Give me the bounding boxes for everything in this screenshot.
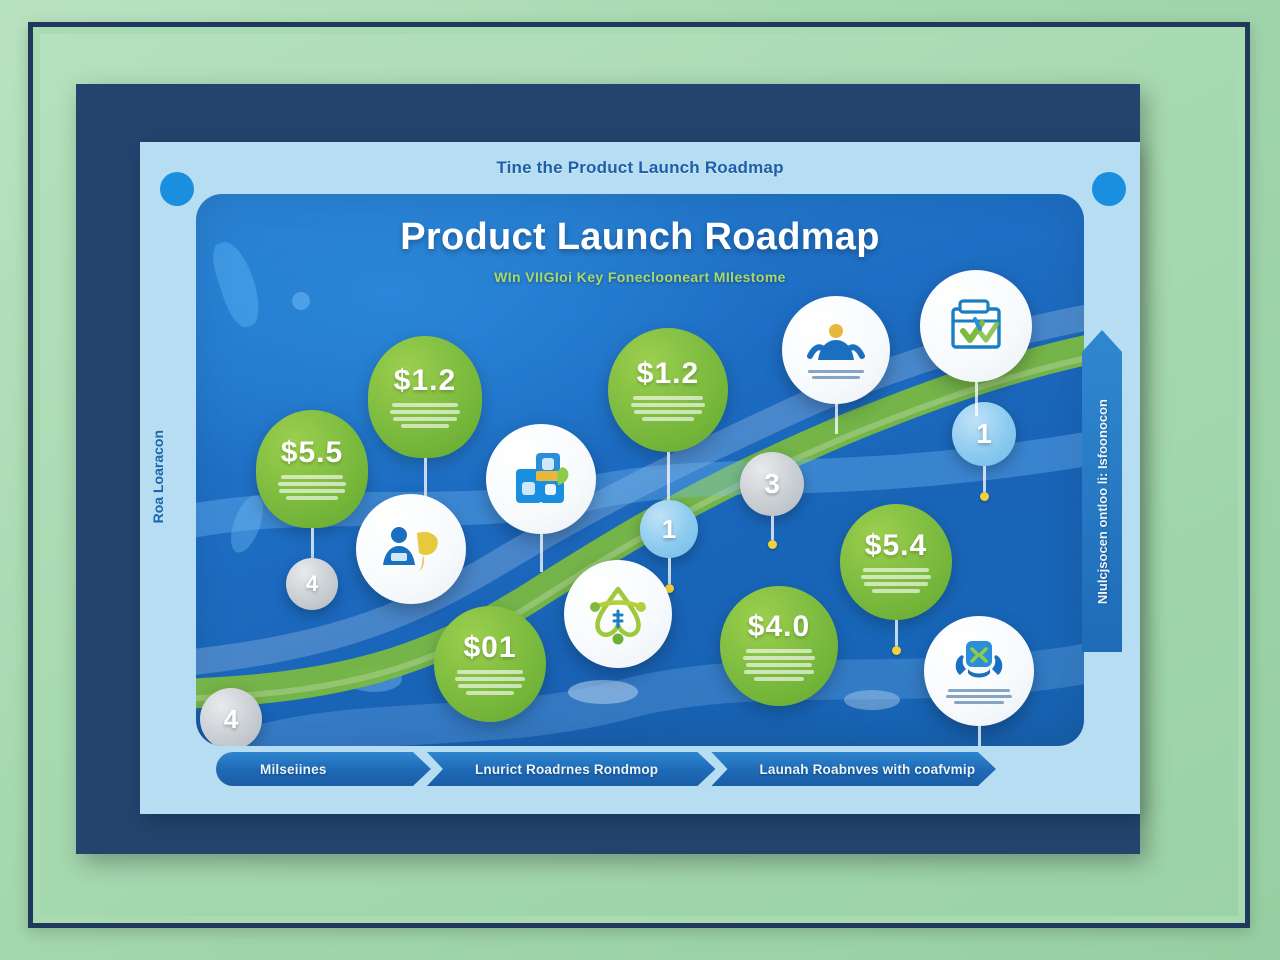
step-marker-3[interactable]: 3: [740, 452, 804, 516]
icon-node-chat[interactable]: [356, 494, 466, 604]
atom-molecule-glyph: [585, 581, 651, 647]
header-eyebrow: Tine the Product Launch Roadmap: [496, 158, 783, 178]
marker-tail: [771, 516, 774, 540]
chat-person-bulb-glyph: [379, 523, 443, 575]
icon-node-calendar[interactable]: [920, 270, 1032, 416]
right-rail-label: NIulcjsocen ontloo li: Isfoonocon: [1095, 399, 1110, 604]
bubble-caption: [455, 670, 525, 695]
bubble-tail-dot: [892, 646, 901, 655]
value-bubble[interactable]: $01: [434, 606, 546, 722]
presenter-person-glyph: [804, 322, 868, 366]
chat-person-bulb-icon[interactable]: [356, 494, 466, 604]
icon-node-blocks[interactable]: [486, 424, 596, 572]
value-bubble[interactable]: $1.2: [368, 336, 482, 458]
step-node-1-right[interactable]: 1: [952, 402, 1016, 501]
value-bubble[interactable]: $4.0: [720, 586, 838, 706]
icon-tail: [975, 382, 978, 416]
building-blocks-leaf-icon[interactable]: [486, 424, 596, 534]
value-bubble[interactable]: $5.5: [256, 410, 368, 528]
milestone-node-4-0[interactable]: $4.0: [720, 586, 838, 706]
robot-device-glyph: [950, 639, 1008, 685]
icon-tail: [978, 726, 981, 746]
right-rail-arrow: NIulcjsocen ontloo li: Isfoonocon: [1082, 352, 1122, 652]
robot-device-icon[interactable]: [924, 616, 1034, 726]
building-blocks-leaf-glyph: [510, 449, 572, 509]
bubble-caption: [390, 403, 460, 428]
bubble-caption: [861, 568, 931, 593]
chevron-nav-bar: Milseiines Lnurict Roadrnes Rondmop Laun…: [216, 752, 996, 786]
bubble-amount: $01: [463, 633, 516, 663]
page-title: Product Launch Roadmap: [196, 216, 1084, 259]
presenter-person-icon[interactable]: [782, 296, 890, 404]
chevron-milestones[interactable]: Milseiines: [216, 752, 431, 786]
infographic-stage: Tine the Product Launch Roadmap Product …: [0, 0, 1280, 960]
chevron-launch-roadmap[interactable]: Lnurict Roadrnes Rondmop: [427, 752, 716, 786]
bubble-caption: [743, 649, 815, 681]
value-bubble[interactable]: $5.4: [840, 504, 952, 620]
icon-tail: [540, 534, 543, 572]
bubble-amount: $5.4: [865, 531, 927, 561]
roadmap-canvas: Product Launch Roadmap WIn VIIGIoi Key F…: [196, 194, 1084, 746]
left-vertical-label: Roa Loaracon: [150, 430, 166, 523]
step-marker-1-left[interactable]: 1: [640, 500, 698, 558]
step-marker-4-standalone[interactable]: 4: [200, 688, 262, 746]
header-eyebrow-strip: Tine the Product Launch Roadmap: [140, 142, 1140, 194]
icon-node-atom[interactable]: [564, 560, 672, 668]
step-node-3[interactable]: 3: [740, 452, 804, 549]
calendar-check-icon[interactable]: [920, 270, 1032, 382]
milestone-node-1-2-a[interactable]: $1.2: [368, 336, 482, 511]
bubble-tail: [667, 452, 670, 500]
bubble-tail: [895, 620, 898, 646]
value-bubble[interactable]: $1.2: [608, 328, 728, 452]
bubble-tail: [311, 528, 314, 558]
icon-caption: [808, 370, 864, 379]
icon-node-presenter[interactable]: [782, 296, 890, 434]
bubble-amount: $1.2: [637, 359, 699, 389]
atom-molecule-icon[interactable]: [564, 560, 672, 668]
bubble-caption: [631, 396, 705, 421]
bubble-amount: $4.0: [748, 612, 810, 642]
marker-tail-dot: [768, 540, 777, 549]
bubble-caption: [278, 475, 346, 500]
marker-tail: [983, 466, 986, 492]
bubble-amount: $1.2: [394, 366, 456, 396]
chevron-launch-with-roadmap[interactable]: Launah Roabnves with coafvmip: [711, 752, 996, 786]
icon-caption: [946, 689, 1012, 704]
icon-tail: [835, 404, 838, 434]
step-marker-4[interactable]: 4: [286, 558, 338, 610]
milestone-node-1-2-b[interactable]: $1.2: [608, 328, 728, 509]
milestone-node-0-1[interactable]: $01: [434, 606, 546, 722]
marker-tail-dot: [980, 492, 989, 501]
icon-node-robot[interactable]: [924, 616, 1034, 746]
bubble-amount: $5.5: [281, 438, 343, 468]
milestone-node-5-5[interactable]: $5.5 4: [256, 410, 368, 610]
calendar-check-glyph: [945, 297, 1007, 355]
